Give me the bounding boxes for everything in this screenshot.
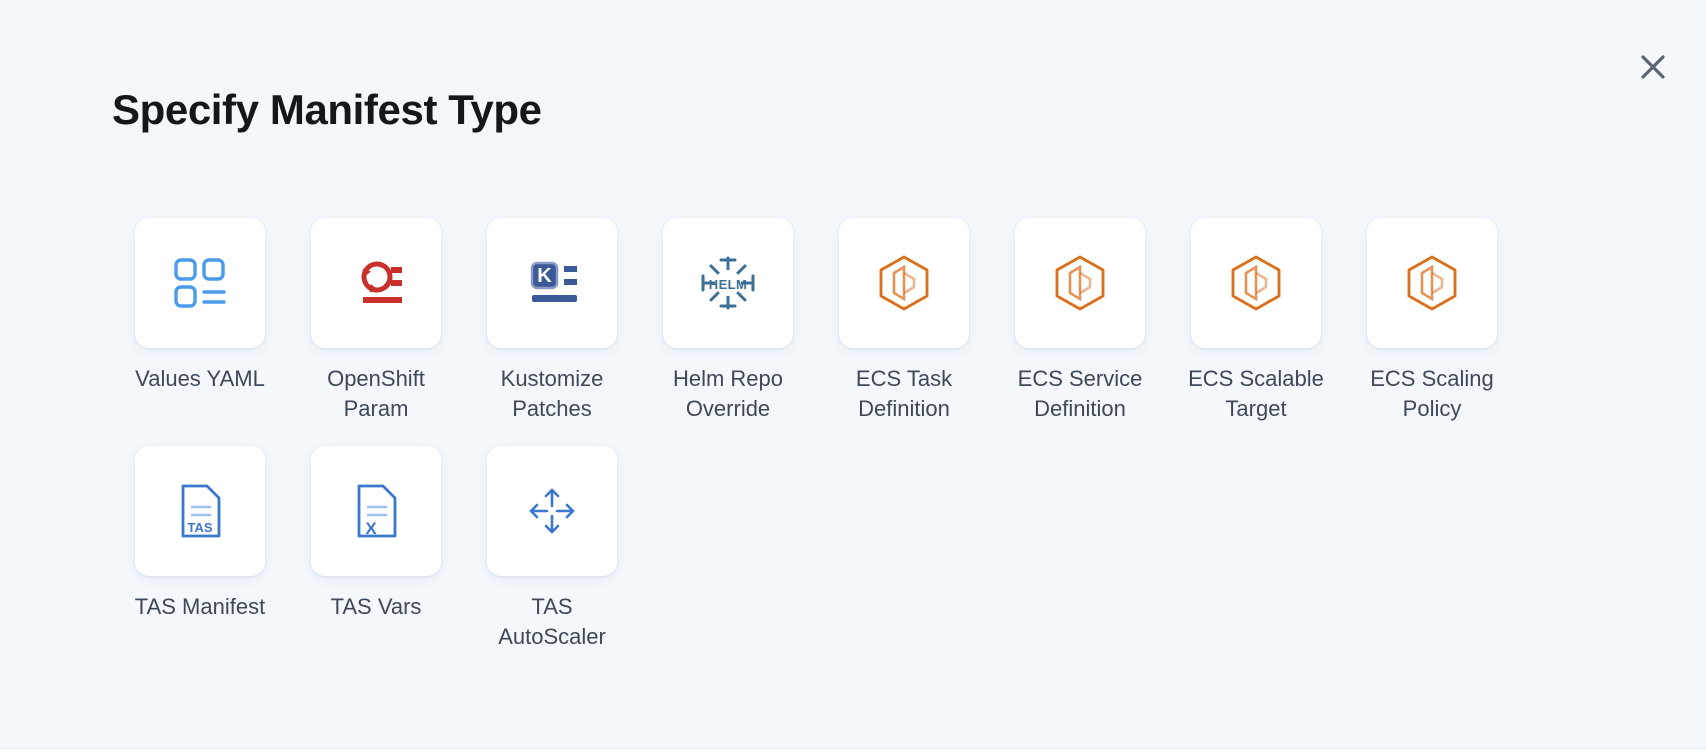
manifest-type-label: ECS Scaling Policy [1357,364,1507,424]
manifest-type-tile[interactable]: HELM [663,218,793,348]
manifest-type-tile[interactable]: X [311,446,441,576]
manifest-type-cell: OpenShift Param [288,218,464,424]
manifest-type-cell: TAS TAS Manifest [112,446,288,652]
manifest-type-label: Values YAML [135,364,265,394]
values-yaml-icon [168,251,232,315]
svg-text:K: K [537,265,552,287]
manifest-type-cell: K Kustomize Patches [464,218,640,424]
openshift-param-icon [344,251,408,315]
manifest-type-tile[interactable] [1191,218,1321,348]
helm-repo-override-icon: HELM [696,251,760,315]
manifest-type-tile[interactable] [839,218,969,348]
tas-autoscaler-icon [520,479,584,543]
manifest-type-cell: ECS Task Definition [816,218,992,424]
manifest-type-cell: HELM Helm Repo Override [640,218,816,424]
ecs-hexagon-icon [1224,251,1288,315]
manifest-type-label: TAS AutoScaler [477,592,627,652]
page-title: Specify Manifest Type [112,86,542,134]
manifest-type-label: Kustomize Patches [477,364,627,424]
manifest-type-grid: Values YAML OpenShift Param K Kustomize … [112,218,1562,674]
manifest-type-tile[interactable] [311,218,441,348]
kustomize-patches-icon: K [520,251,584,315]
specify-manifest-type-dialog: Specify Manifest Type Values YAML OpenSh… [0,0,1706,748]
ecs-hexagon-icon [872,251,936,315]
manifest-type-tile[interactable] [135,218,265,348]
close-icon[interactable] [1630,44,1676,90]
manifest-type-label: ECS Service Definition [1005,364,1155,424]
manifest-type-tile[interactable]: TAS [135,446,265,576]
tas-manifest-icon: TAS [168,479,232,543]
svg-text:TAS: TAS [187,520,212,535]
manifest-type-cell: X TAS Vars [288,446,464,652]
manifest-type-tile[interactable]: K [487,218,617,348]
close-icon-glyph [1638,52,1668,82]
manifest-type-label: Helm Repo Override [653,364,803,424]
manifest-type-cell: Values YAML [112,218,288,424]
manifest-type-cell: ECS Scalable Target [1168,218,1344,424]
manifest-type-label: TAS Manifest [135,592,265,622]
manifest-type-label: ECS Task Definition [829,364,979,424]
manifest-type-label: TAS Vars [331,592,422,622]
manifest-type-label: ECS Scalable Target [1181,364,1331,424]
manifest-type-tile[interactable] [1015,218,1145,348]
svg-text:X: X [365,519,377,538]
ecs-hexagon-icon [1400,251,1464,315]
dialog-footer-rule [0,748,1706,754]
ecs-hexagon-icon [1048,251,1112,315]
manifest-type-cell: ECS Service Definition [992,218,1168,424]
manifest-type-tile[interactable] [487,446,617,576]
manifest-type-cell: ECS Scaling Policy [1344,218,1520,424]
tas-vars-icon: X [344,479,408,543]
manifest-type-label: OpenShift Param [301,364,451,424]
manifest-type-cell: TAS AutoScaler [464,446,640,652]
svg-text:HELM: HELM [709,277,747,292]
manifest-type-tile[interactable] [1367,218,1497,348]
